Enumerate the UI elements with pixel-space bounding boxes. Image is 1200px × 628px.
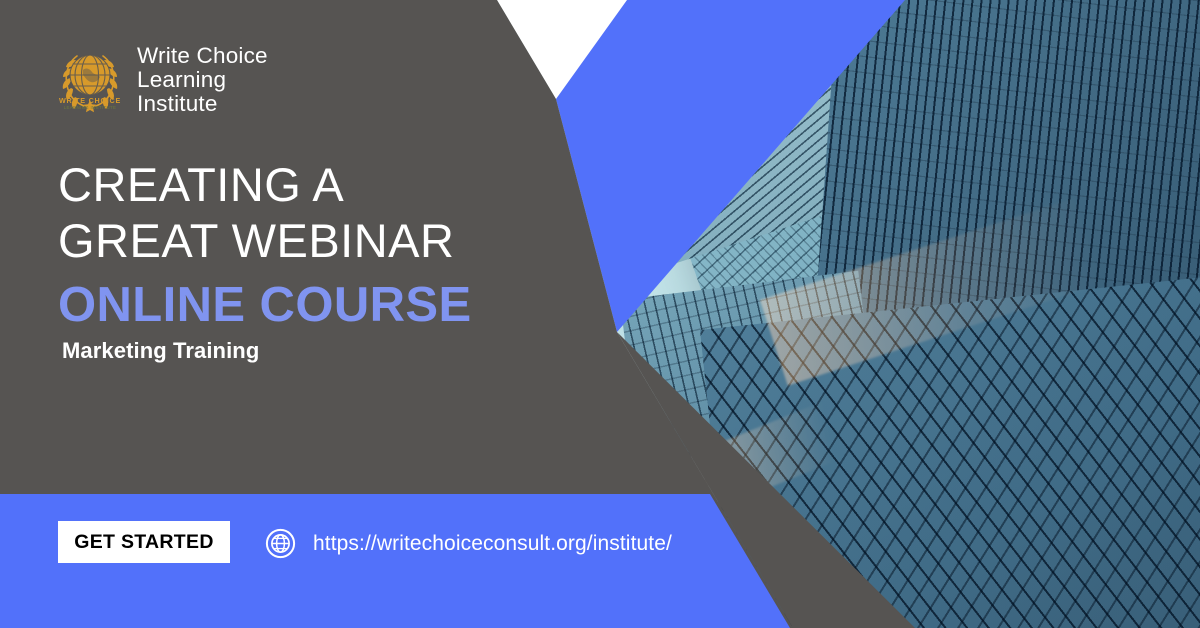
banner-content: WRITE CHOICE LEARNING INSTITUTE Write Ch… — [0, 0, 1200, 628]
logo-primary-text: WRITE CHOICE — [57, 97, 123, 105]
website-url-row[interactable]: https://writechoiceconsult.org/institute… — [265, 528, 672, 559]
page-title: CREATING A GREAT WEBINAR — [58, 157, 454, 269]
globe-icon — [265, 528, 296, 559]
get-started-button[interactable]: GET STARTED — [58, 521, 230, 563]
brand-name: Write Choice Learning Institute — [137, 44, 268, 116]
website-url-text[interactable]: https://writechoiceconsult.org/institute… — [313, 532, 672, 556]
page-subtitle-accent: ONLINE COURSE — [58, 276, 472, 334]
page-tagline: Marketing Training — [62, 337, 259, 365]
brand-logo: WRITE CHOICE LEARNING INSTITUTE Write Ch… — [57, 42, 268, 118]
globe-laurel-logo-icon: WRITE CHOICE LEARNING INSTITUTE — [57, 42, 123, 118]
webinar-course-banner: WRITE CHOICE LEARNING INSTITUTE Write Ch… — [0, 0, 1200, 628]
logo-secondary-text: LEARNING INSTITUTE — [57, 105, 123, 111]
